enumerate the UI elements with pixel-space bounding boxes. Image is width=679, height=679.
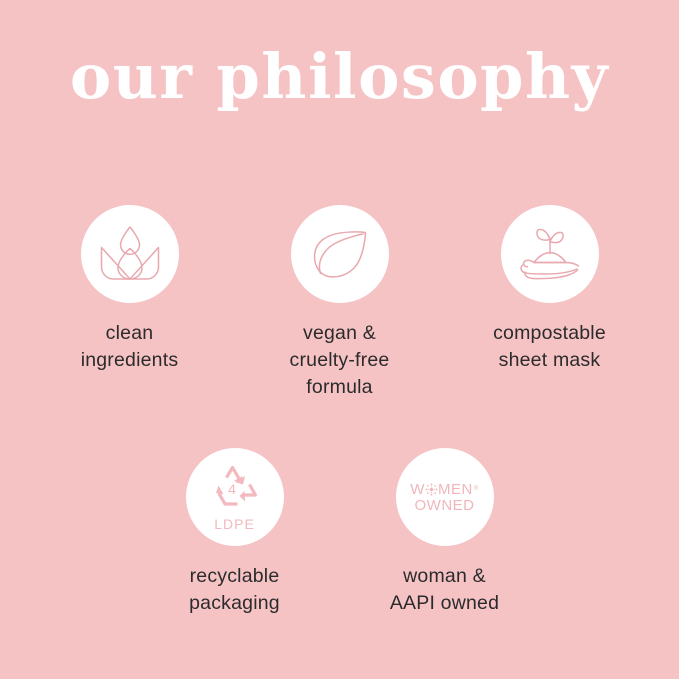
badge-caption: woman & AAPI owned <box>390 563 499 617</box>
women-owned-badge-icon: W <box>410 482 478 513</box>
lotus-droplet-icon <box>98 223 162 285</box>
hand-holding-sprout-icon <box>517 225 583 283</box>
badge-circle <box>81 205 179 303</box>
badge-circle <box>501 205 599 303</box>
badge-compostable-sheet-mask: compostable sheet mask <box>445 205 655 374</box>
badge-caption: recyclable packaging <box>189 563 280 617</box>
badge-caption: clean ingredients <box>81 320 179 374</box>
trademark-symbol: ® <box>474 486 479 492</box>
badge-caption: vegan & cruelty-free formula <box>290 320 390 401</box>
page-title: our philosophy <box>0 46 679 108</box>
leaf-icon <box>309 226 371 282</box>
badge-circle: 4 LDPE <box>186 448 284 546</box>
badge-caption: compostable sheet mask <box>493 320 606 374</box>
badge-vegan-cruelty-free: vegan & cruelty-free formula <box>235 205 445 401</box>
sparkle-icon <box>425 483 438 496</box>
badge-row-top: clean ingredients vegan & cruelty-free f… <box>0 205 679 401</box>
recycling-ldpe-icon: 4 LDPE <box>206 464 264 531</box>
badge-clean-ingredients: clean ingredients <box>25 205 235 374</box>
badge-woman-aapi-owned: W <box>340 448 550 617</box>
badge-circle <box>291 205 389 303</box>
women-owned-line2: OWNED <box>415 498 475 513</box>
resin-label: LDPE <box>214 517 255 531</box>
badge-row-bottom: 4 LDPE recyclable packaging W <box>0 448 679 617</box>
women-owned-w: W <box>410 482 425 497</box>
badge-recyclable-packaging: 4 LDPE recyclable packaging <box>130 448 340 617</box>
philosophy-infographic: our philosophy cle <box>0 0 679 679</box>
badge-circle: W <box>396 448 494 546</box>
resin-code-number: 4 <box>228 481 236 497</box>
women-owned-men: MEN <box>438 482 473 497</box>
